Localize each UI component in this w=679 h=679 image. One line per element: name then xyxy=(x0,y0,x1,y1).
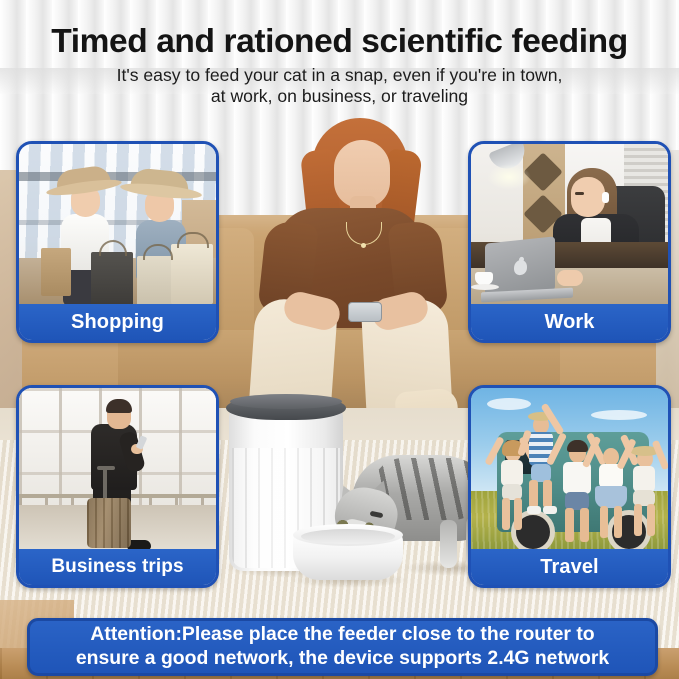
desk-lamp-glow xyxy=(487,164,531,190)
shopping-bag-4 xyxy=(171,244,213,304)
feature-card-business-trips[interactable]: Business trips xyxy=(16,385,219,588)
shopping-photo xyxy=(19,144,216,304)
worker-eye xyxy=(575,192,584,195)
shopping-bag-2 xyxy=(91,252,133,304)
promo-infographic: Timed and rationed scientific feeding It… xyxy=(0,0,679,679)
travel-photo xyxy=(471,388,668,549)
suitcase-handle-shaft xyxy=(103,468,107,500)
subtitle-line-2: at work, on business, or traveling xyxy=(211,86,468,106)
attention-banner: Attention:Please place the feeder close … xyxy=(27,618,658,676)
attention-line-2: ensure a good network, the device suppor… xyxy=(76,647,609,669)
shopping-bag-1 xyxy=(41,248,71,296)
cat-front-leg xyxy=(440,520,457,568)
worker-face xyxy=(571,177,605,217)
smartphone xyxy=(348,302,382,322)
work-photo xyxy=(471,144,668,304)
coffee-saucer xyxy=(471,284,499,290)
feature-card-work[interactable]: Work xyxy=(468,141,671,343)
rolling-suitcase xyxy=(87,498,131,548)
business-trip-photo xyxy=(19,388,216,549)
card-label-travel: Travel xyxy=(471,549,668,585)
feature-card-travel[interactable]: Travel xyxy=(468,385,671,588)
feeding-bowl-inner xyxy=(301,529,395,544)
attention-text: Attention:Please place the feeder close … xyxy=(70,623,615,670)
subtitle-line-1: It's easy to feed your cat in a snap, ev… xyxy=(117,65,563,85)
pet-feeder-lid-top xyxy=(230,394,342,409)
card-label-work: Work xyxy=(471,304,668,340)
traveler-hair xyxy=(106,399,132,413)
attention-line-1: Attention:Please place the feeder close … xyxy=(90,623,594,645)
cloud-2 xyxy=(591,410,647,420)
card-label-shopping: Shopping xyxy=(19,304,216,340)
feature-card-shopping[interactable]: Shopping xyxy=(16,141,219,343)
earbud-icon xyxy=(602,192,609,203)
worker-hand xyxy=(557,270,583,286)
page-title: Timed and rationed scientific feeding xyxy=(0,0,679,61)
header: Timed and rationed scientific feeding It… xyxy=(0,0,679,106)
cloud-1 xyxy=(487,398,531,410)
subtitle: It's easy to feed your cat in a snap, ev… xyxy=(0,65,679,107)
card-label-business-trips: Business trips xyxy=(19,549,216,585)
woman-necklace-pendant xyxy=(361,243,366,248)
